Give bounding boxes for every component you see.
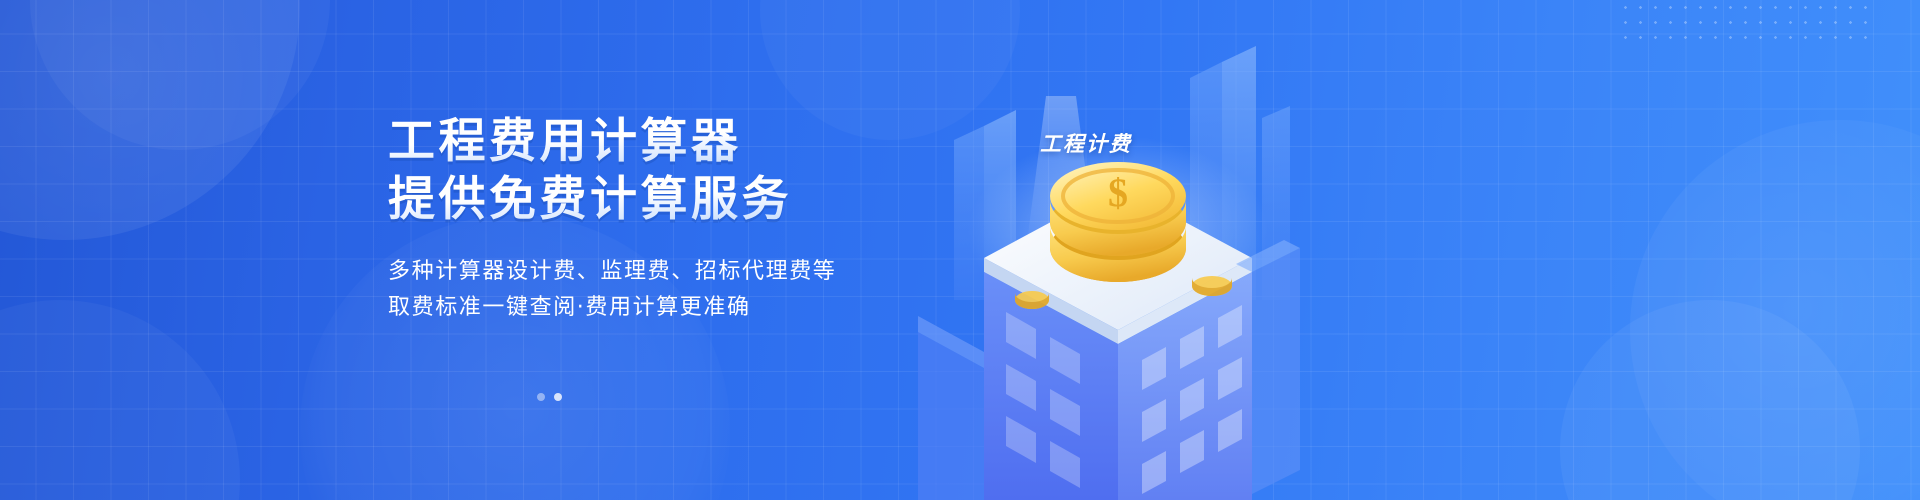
banner-illustration: $ 工程计费 <box>860 0 1380 500</box>
side-tower <box>918 316 984 500</box>
carousel-dot-2[interactable] <box>554 393 562 401</box>
carousel-dot-1[interactable] <box>537 393 545 401</box>
banner-copy: 工程费用计算器 提供免费计算服务 多种计算器设计费、监理费、招标代理费等 取费标… <box>388 112 836 326</box>
decorative-circle-bottom-left-2 <box>0 300 240 500</box>
decorative-circle-top-left-2 <box>30 0 330 150</box>
illustration-badge-label: 工程计费 <box>1040 128 1132 158</box>
isometric-city-coins-illustration: $ <box>860 0 1380 500</box>
carousel-pagination[interactable] <box>537 393 562 401</box>
dot-grid-pattern-icon <box>1618 0 1878 46</box>
banner-subtitle: 多种计算器设计费、监理费、招标代理费等 取费标准一键查阅·费用计算更准确 <box>388 254 836 326</box>
decorative-circle-right-2 <box>1560 300 1860 500</box>
decorative-circle-right <box>1630 120 1920 500</box>
banner-subtitle-line-2: 取费标准一键查阅·费用计算更准确 <box>388 290 836 326</box>
coin-stack: $ <box>1050 162 1186 282</box>
hero-banner: 工程费用计算器 提供免费计算服务 多种计算器设计费、监理费、招标代理费等 取费标… <box>0 0 1920 500</box>
banner-headline-line-1: 工程费用计算器 <box>388 112 836 170</box>
banner-subtitle-line-1: 多种计算器设计费、监理费、招标代理费等 <box>388 254 836 290</box>
decorative-circle-top-left <box>0 0 300 240</box>
coin-dollar-symbol: $ <box>1108 170 1128 215</box>
banner-headline-line-2: 提供免费计算服务 <box>388 170 836 228</box>
